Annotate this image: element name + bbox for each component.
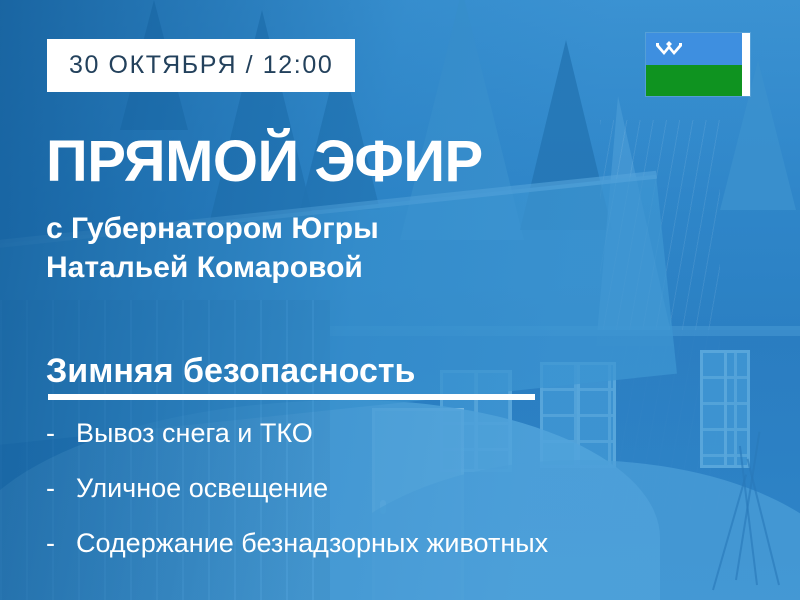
list-item: - Вывоз снега и ТКО	[46, 418, 776, 473]
topic-heading: Зимняя безопасность	[46, 352, 415, 390]
yugra-crown-emblem-icon	[654, 39, 684, 59]
date-time-text: 30 ОКТЯБРЯ / 12:00	[69, 51, 333, 80]
list-item-label: Вывоз снега и ТКО	[76, 418, 313, 449]
bullet-dash: -	[46, 528, 76, 559]
subtitle-line-2: Натальей Комаровой	[46, 248, 379, 287]
list-item-label: Содержание безнадзорных животных	[76, 528, 548, 559]
list-item-label: Уличное освещение	[76, 473, 328, 504]
flag-white-stripe	[742, 33, 750, 96]
subtitle-line-1: с Губернатором Югры	[46, 209, 379, 248]
live-broadcast-poster: 30 ОКТЯБРЯ / 12:00 ПРЯМОЙ ЭФИР с Губерна…	[0, 0, 800, 600]
headline-title: ПРЯМОЙ ЭФИР	[46, 131, 483, 193]
topic-bullet-list: - Вывоз снега и ТКО - Уличное освещение …	[46, 418, 776, 583]
bullet-dash: -	[46, 473, 76, 504]
bullet-dash: -	[46, 418, 76, 449]
list-item: - Содержание безнадзорных животных	[46, 528, 776, 583]
topic-underline-rule	[48, 394, 535, 400]
poster-content: 30 ОКТЯБРЯ / 12:00 ПРЯМОЙ ЭФИР с Губерна…	[0, 0, 800, 600]
date-time-badge: 30 ОКТЯБРЯ / 12:00	[47, 39, 355, 92]
subtitle-block: с Губернатором Югры Натальей Комаровой	[46, 209, 379, 287]
yugra-flag	[646, 33, 750, 96]
list-item: - Уличное освещение	[46, 473, 776, 528]
flag-blue-band	[646, 33, 750, 65]
flag-green-band	[646, 65, 750, 97]
